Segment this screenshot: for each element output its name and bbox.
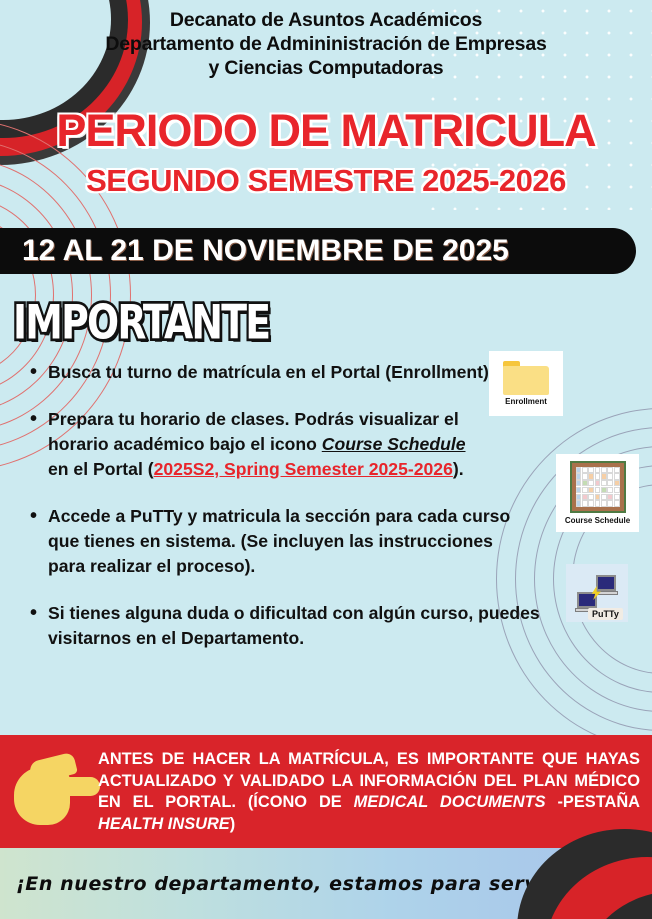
footer-text: ¡En nuestro departamento, estamos para s… xyxy=(16,873,596,895)
header-line-1: Decanato de Asuntos Académicos xyxy=(0,8,652,32)
alert-banner: ANTES DE HACER LA MATRÍCULA, ES IMPORTAN… xyxy=(0,735,652,848)
poster-title-primary: PERIODO DE MATRICULA xyxy=(0,105,652,157)
course-schedule-icon-card[interactable]: Course Schedule xyxy=(556,454,639,532)
header-block: Decanato de Asuntos Académicos Departame… xyxy=(0,8,652,80)
enrollment-icon-label: Enrollment xyxy=(505,397,547,406)
list-item-text: Accede a PuTTy y matricula la sección pa… xyxy=(48,504,528,579)
bullet-marker: • xyxy=(30,504,48,579)
putty-icon-label: PuTTy xyxy=(588,608,623,620)
poster-root: Decanato de Asuntos Académicos Departame… xyxy=(0,0,652,919)
instructions-list: • Busca tu turno de matrícula en el Port… xyxy=(30,360,560,673)
list-item-text: Prepara tu horario de clases. Podrás vis… xyxy=(48,407,470,482)
putty-icon xyxy=(574,573,620,613)
course-schedule-icon-label: Course Schedule xyxy=(562,515,633,526)
list-item-text: Busca tu turno de matrícula en el Portal… xyxy=(48,360,560,385)
bullet-marker: • xyxy=(30,407,48,482)
folder-icon xyxy=(503,361,549,395)
pointing-hand-icon xyxy=(14,755,94,827)
bullet-marker: • xyxy=(30,601,48,651)
poster-title-secondary: SEGUNDO SEMESTRE 2025-2026 xyxy=(0,163,652,199)
header-line-2: Departamento de Admininistración de Empr… xyxy=(0,32,652,56)
enrollment-icon-card[interactable]: Enrollment xyxy=(489,351,563,416)
list-item: • Prepara tu horario de clases. Podrás v… xyxy=(30,407,470,482)
list-item-text: Si tienes alguna duda o dificultad con a… xyxy=(48,601,550,651)
alert-text: ANTES DE HACER LA MATRÍCULA, ES IMPORTAN… xyxy=(98,749,640,835)
list-item: • Si tienes alguna duda o dificultad con… xyxy=(30,601,550,651)
date-banner: 12 AL 21 DE NOVIEMBRE DE 2025 xyxy=(0,228,636,274)
date-banner-text: 12 AL 21 DE NOVIEMBRE DE 2025 xyxy=(22,234,509,268)
important-heading: IMPORTANTE xyxy=(13,295,269,350)
list-item: • Accede a PuTTy y matricula la sección … xyxy=(30,504,528,579)
footer-banner: ¡En nuestro departamento, estamos para s… xyxy=(0,848,652,919)
bullet-marker: • xyxy=(30,360,48,385)
calendar-icon xyxy=(570,461,626,513)
header-line-3: y Ciencias Computadoras xyxy=(0,56,652,80)
list-item: • Busca tu turno de matrícula en el Port… xyxy=(30,360,560,385)
